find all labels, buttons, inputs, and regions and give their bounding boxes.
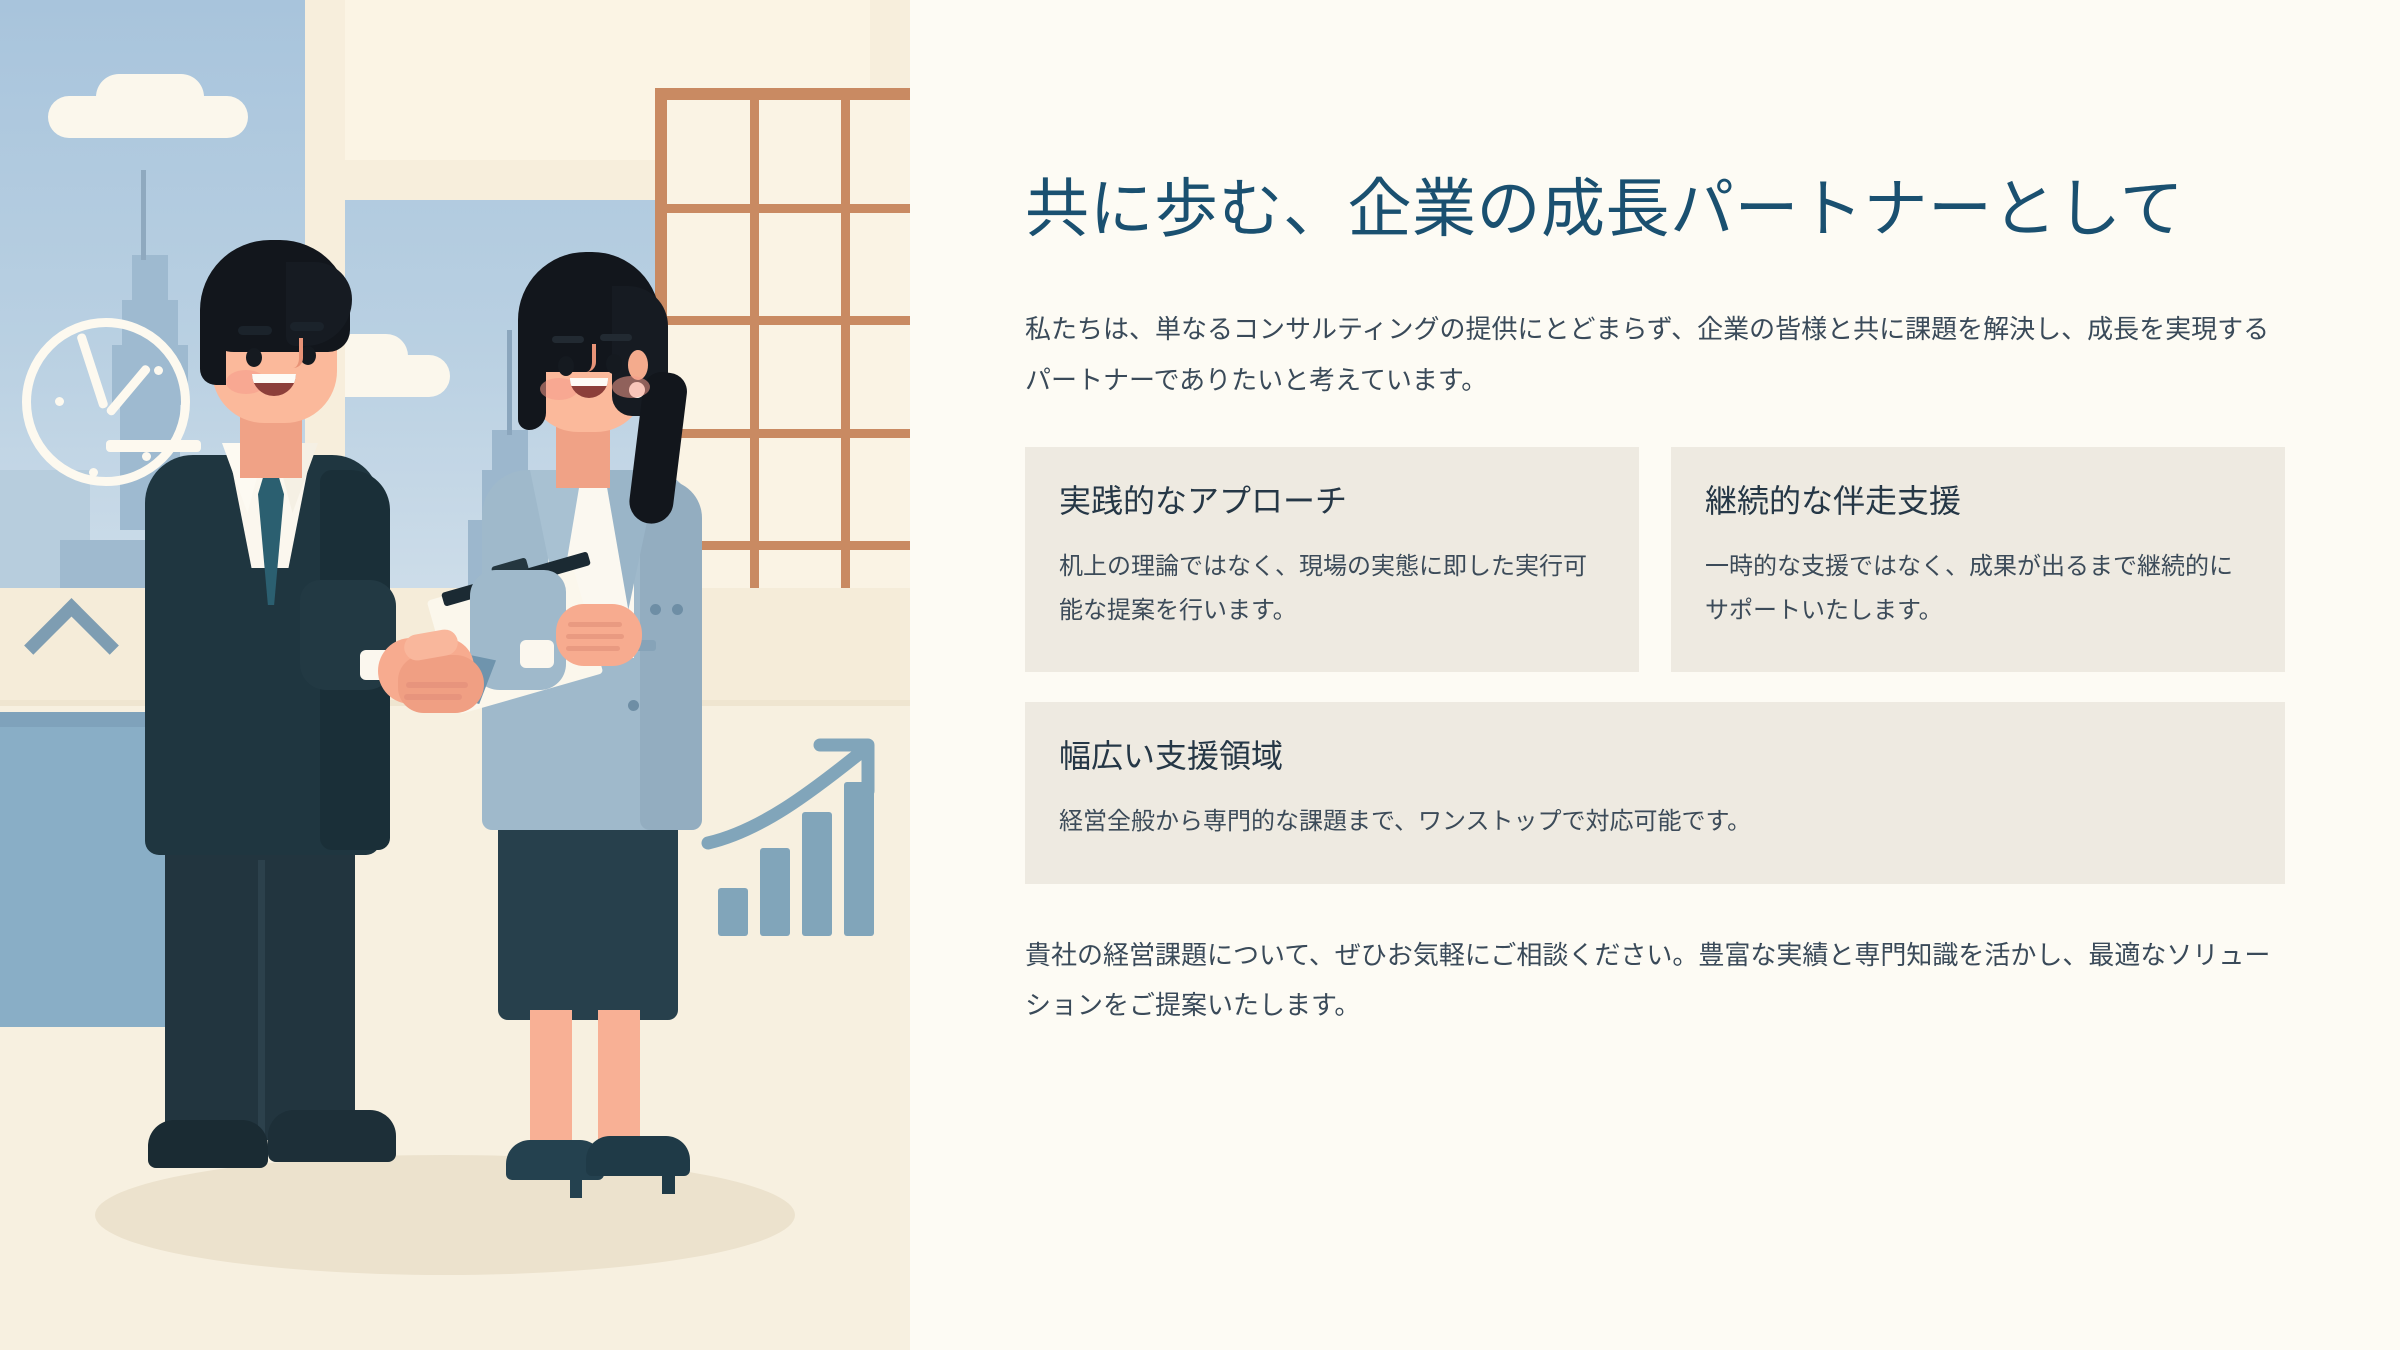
feature-card-row-bottom: 幅広い支援領域 経営全般から専門的な課題まで、ワンストップで対応可能です。: [1025, 702, 2285, 883]
eyebrow: [238, 326, 272, 335]
teeth: [570, 378, 608, 386]
teeth: [252, 374, 296, 383]
slide-root: 共に歩む、企業の成長パートナーとして 私たちは、単なるコンサルティングの提供にと…: [0, 0, 2400, 1350]
feature-card-body: 一時的な支援ではなく、成果が出るまで継続的にサポートいたします。: [1705, 545, 2251, 632]
finger-line: [406, 682, 468, 688]
shoji-pane: [759, 100, 842, 204]
figure-shadow: [95, 1155, 795, 1275]
clock-tick: [154, 366, 163, 375]
closing-paragraph: 貴社の経営課題について、ぜひお気軽にご相談ください。豊富な実績と専門知識を活かし…: [1025, 930, 2280, 1031]
womans-hair-side: [518, 320, 546, 430]
shoji-pane: [850, 438, 910, 542]
eyebrow: [552, 336, 584, 343]
leg: [598, 1010, 640, 1155]
clock-tick: [55, 397, 64, 406]
clock-hand-bar: [106, 440, 201, 452]
leg: [530, 1010, 572, 1155]
feature-card-title: 継続的な伴走支援: [1705, 481, 2251, 523]
feature-card-body: 机上の理論ではなく、現場の実態に即した実行可能な提案を行います。: [1059, 545, 1605, 632]
clock-tick: [89, 468, 98, 477]
shoji-pane: [850, 325, 910, 429]
blazer-button: [672, 604, 683, 615]
content-panel: 共に歩む、企業の成長パートナーとして 私たちは、単なるコンサルティングの提供にと…: [910, 0, 2400, 1350]
eye: [246, 348, 262, 367]
shirt-cuff: [520, 640, 554, 668]
eyebrow: [600, 334, 632, 341]
tower-spire: [141, 170, 146, 260]
growth-chart-bar: [718, 888, 748, 936]
shoe-heel: [570, 1168, 582, 1198]
finger-line: [568, 622, 622, 627]
feature-card-broad-coverage[interactable]: 幅広い支援領域 経営全般から専門的な課題まで、ワンストップで対応可能です。: [1025, 702, 2285, 883]
feature-card-row-top: 実践的なアプローチ 机上の理論ではなく、現場の実態に即した実行可能な提案を行いま…: [1025, 447, 2285, 672]
blazer-button: [628, 700, 639, 711]
tower-shape: [132, 255, 168, 305]
shoji-pane: [667, 213, 750, 317]
clock-tick: [142, 452, 151, 461]
finger-line: [566, 634, 624, 639]
eye: [606, 354, 622, 374]
trouser-crease: [258, 860, 265, 1135]
nose: [288, 338, 303, 368]
shoji-pane: [759, 213, 842, 317]
feature-card-continuous-support[interactable]: 継続的な伴走支援 一時的な支援ではなく、成果が出るまで継続的にサポートいたします…: [1671, 447, 2285, 672]
shoji-pane: [759, 438, 842, 542]
nose: [582, 344, 596, 372]
shoe-heel: [662, 1162, 675, 1194]
shoji-pane: [759, 325, 842, 429]
page-title: 共に歩む、企業の成長パートナーとして: [1025, 170, 2225, 248]
feature-card-body: 経営全般から専門的な課題まで、ワンストップで対応可能です。: [1059, 800, 2251, 844]
womans-blazer-side: [640, 480, 702, 830]
intro-paragraph: 私たちは、単なるコンサルティングの提供にとどまらず、企業の皆様と共に課題を解決し…: [1025, 304, 2280, 405]
cheek-blush: [612, 376, 650, 398]
business-handshake-illustration: [0, 0, 910, 1350]
shoji-pane: [850, 213, 910, 317]
feature-card-title: 実践的なアプローチ: [1059, 481, 1605, 523]
finger-line: [404, 694, 462, 700]
blazer-button: [650, 604, 661, 615]
cloud-shape: [96, 74, 204, 120]
shoji-pane: [667, 100, 750, 204]
feature-card-title: 幅広い支援領域: [1059, 736, 2251, 778]
tower-shape: [492, 430, 528, 476]
growth-arrow-icon: [700, 735, 900, 865]
mans-shoe: [148, 1120, 268, 1168]
eyebrow: [290, 322, 324, 331]
tower-spire: [507, 330, 512, 435]
mans-shoe: [268, 1110, 396, 1162]
eye: [558, 356, 574, 376]
womans-skirt: [498, 805, 678, 1020]
feature-card-practical-approach[interactable]: 実践的なアプローチ 机上の理論ではなく、現場の実態に即した実行可能な提案を行いま…: [1025, 447, 1639, 672]
shoji-pane: [850, 100, 910, 204]
finger-line: [566, 646, 620, 651]
mans-hair-side: [200, 300, 226, 385]
